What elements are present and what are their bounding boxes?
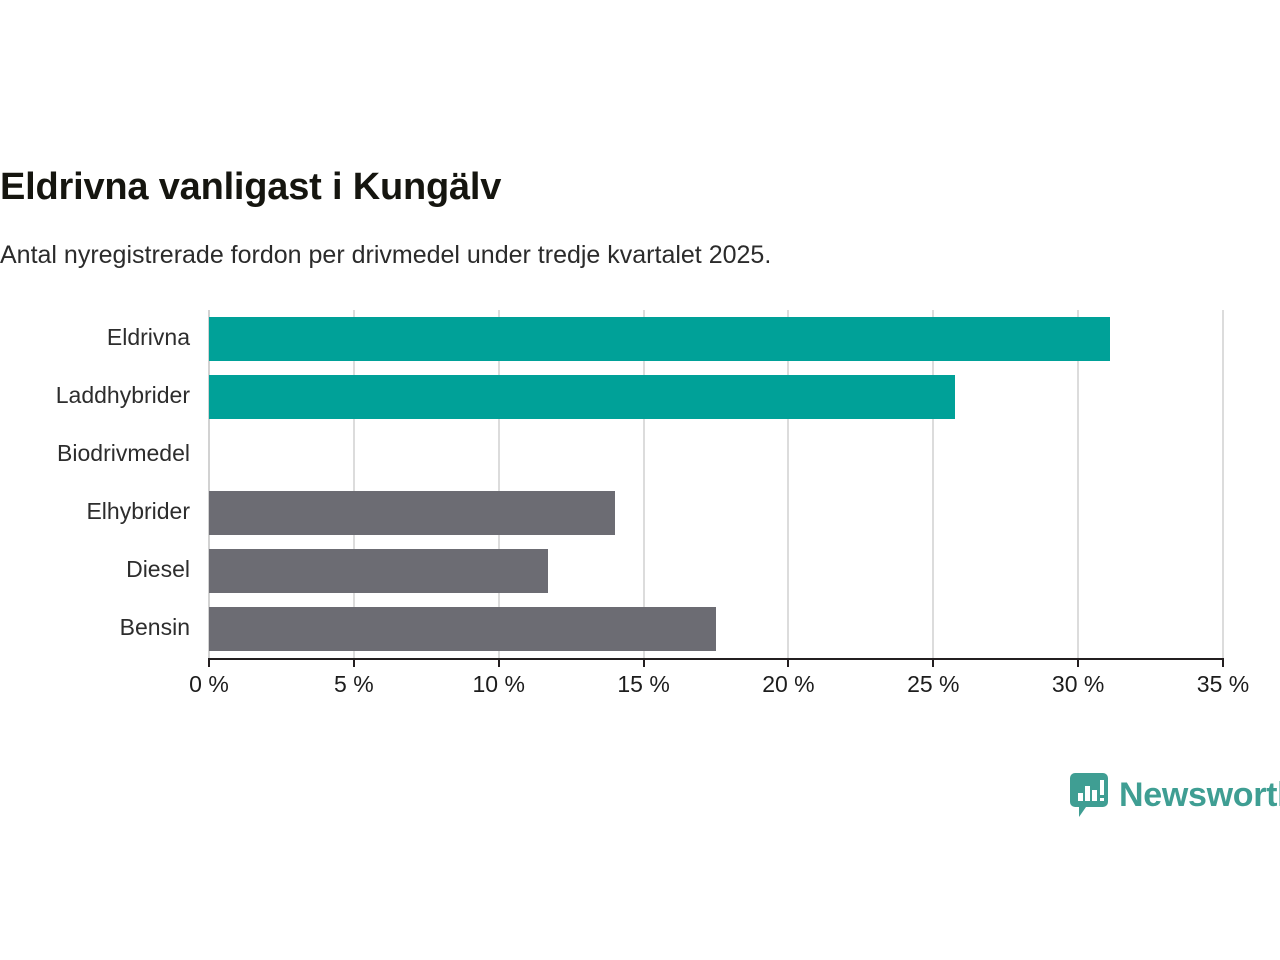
bar-row [209,607,1223,651]
y-axis-label-biodrivmedel: Biodrivmedel [57,440,190,467]
x-tick-30 [1077,658,1079,667]
x-axis-line [209,658,1224,660]
x-tick-10 [498,658,500,667]
x-tick-label: 20 % [762,671,814,698]
x-tick-label: 5 % [334,671,374,698]
bar-diesel [209,549,548,593]
chart-bubble-icon [1070,773,1108,817]
bar-laddhybrider [209,375,955,419]
page-title: Eldrivna vanligast i Kungälv [0,167,1240,209]
y-axis-label-eldrivna: Eldrivna [107,324,190,351]
y-axis-label-laddhybrider: Laddhybrider [56,382,190,409]
y-axis-label-diesel: Diesel [126,556,190,583]
chart-plot: 0 %5 %10 %15 %20 %25 %30 %35 % EldrivnaL… [0,300,1280,700]
chart-subtitle: Antal nyregistrerade fordon per drivmede… [0,240,1240,270]
bar-series [209,310,1223,658]
bar-row [209,375,1223,419]
x-tick-20 [787,658,789,667]
y-axis-label-elhybrider: Elhybrider [86,498,190,525]
x-tick-label: 10 % [472,671,524,698]
x-tick-15 [643,658,645,667]
bar-eldrivna [209,317,1110,361]
x-tick-label: 25 % [907,671,959,698]
newsworthy-logo: Newsworthy [1070,770,1280,820]
bar-bensin [209,607,716,651]
x-tick-35 [1222,658,1224,667]
x-tick-25 [932,658,934,667]
x-tick-5 [353,658,355,667]
bar-row [209,317,1223,361]
bar-row [209,433,1223,477]
bar-row [209,549,1223,593]
x-tick-label: 35 % [1197,671,1249,698]
logo-wordmark: Newsworthy [1119,778,1280,812]
x-tick-0 [208,658,210,667]
x-tick-label: 15 % [617,671,669,698]
bar-row [209,491,1223,535]
x-tick-label: 30 % [1052,671,1104,698]
chart-page: Eldrivna vanligast i Kungälv Antal nyreg… [0,0,1280,960]
x-tick-label: 0 % [189,671,229,698]
y-axis-label-bensin: Bensin [120,614,190,641]
plot-area [209,310,1223,658]
bar-elhybrider [209,491,615,535]
